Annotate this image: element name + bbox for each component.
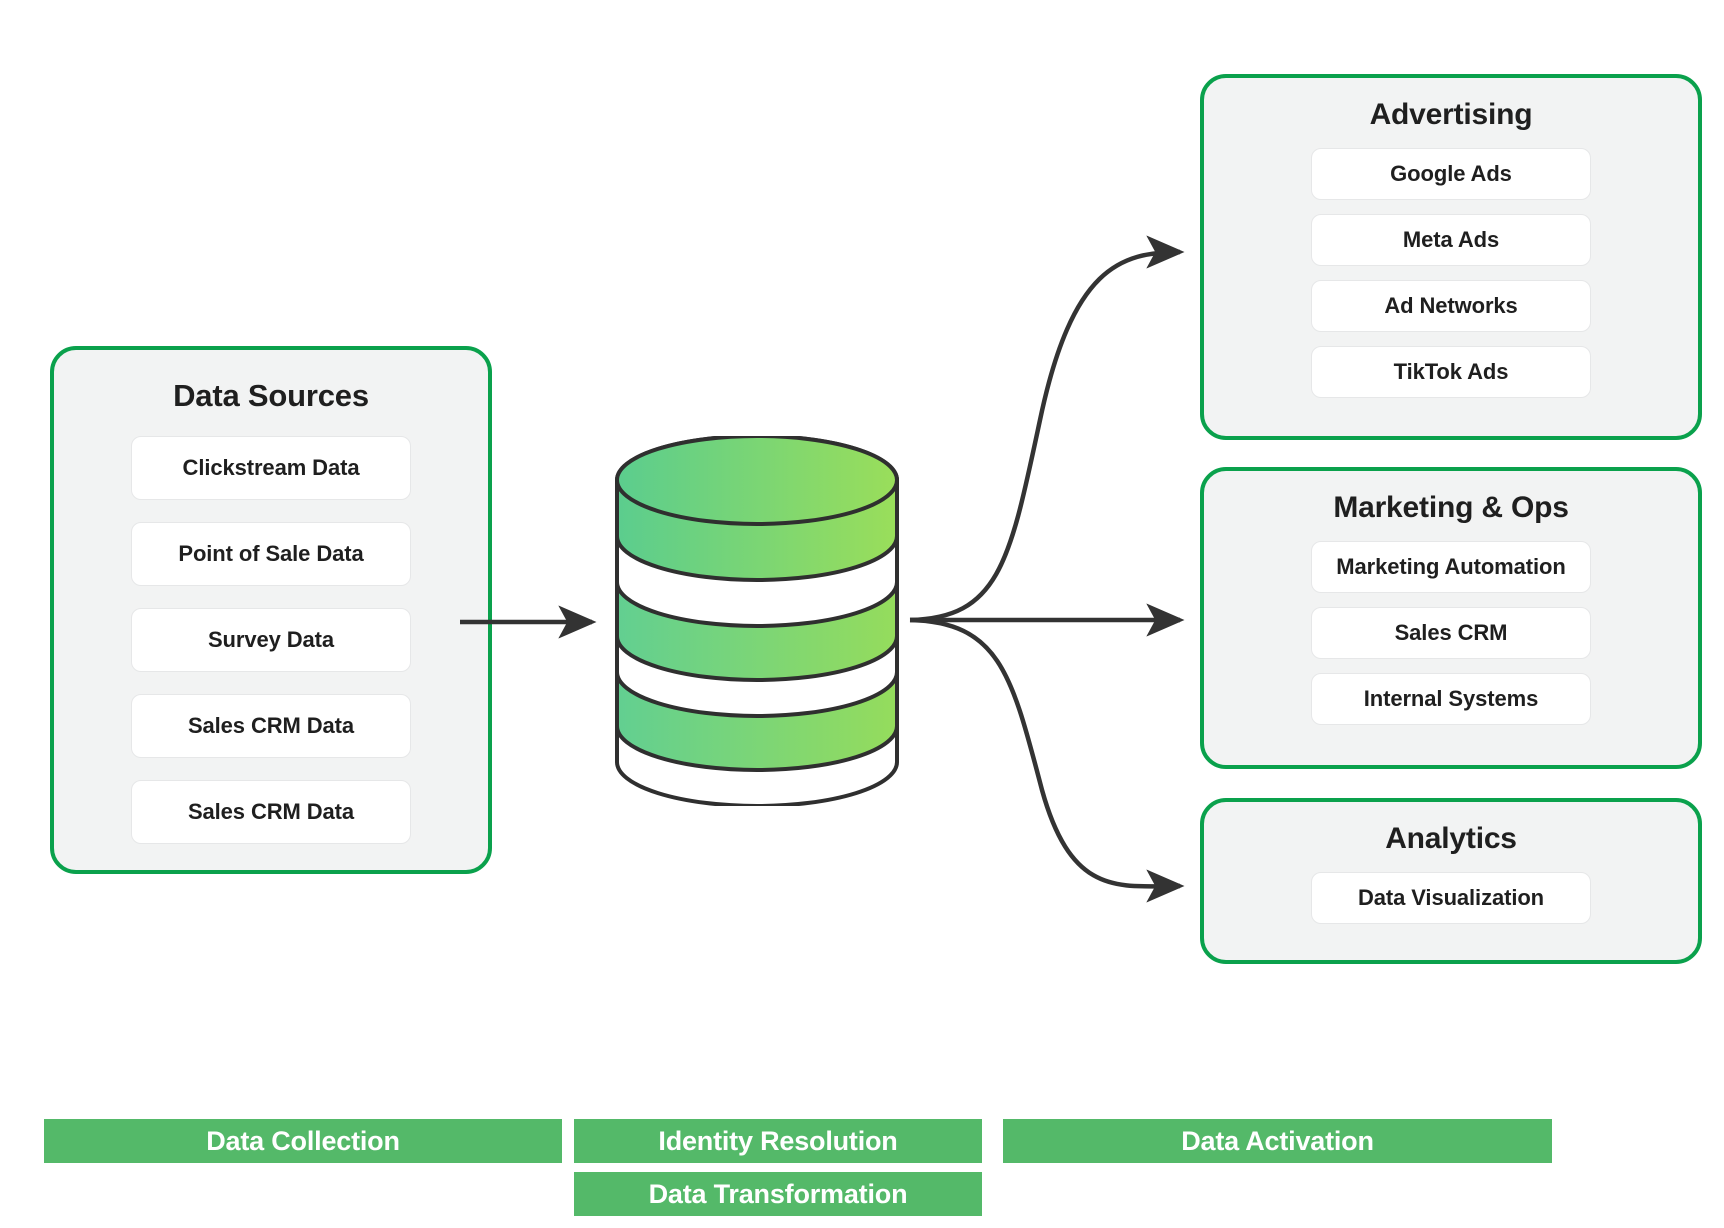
analytics-item[interactable]: Data Visualization	[1311, 872, 1591, 924]
data-source-item[interactable]: Survey Data	[131, 608, 411, 672]
arrow-database-to-advertising	[910, 252, 1180, 620]
advertising-item[interactable]: Google Ads	[1311, 148, 1591, 200]
marketing-ops-item[interactable]: Sales CRM	[1311, 607, 1591, 659]
advertising-title: Advertising	[1204, 98, 1698, 132]
marketing-ops-item[interactable]: Marketing Automation	[1311, 541, 1591, 593]
marketing-ops-panel: Marketing & Ops Marketing Automation Sal…	[1200, 467, 1702, 769]
data-sources-item-list: Clickstream Data Point of Sale Data Surv…	[54, 436, 488, 844]
data-source-item[interactable]: Sales CRM Data	[131, 780, 411, 844]
advertising-item-list: Google Ads Meta Ads Ad Networks TikTok A…	[1204, 148, 1698, 398]
stage-bar-data-activation: Data Activation	[1003, 1119, 1552, 1163]
advertising-item[interactable]: Meta Ads	[1311, 214, 1591, 266]
analytics-item-list: Data Visualization	[1204, 872, 1698, 924]
stage-bar-data-transformation: Data Transformation	[574, 1172, 982, 1216]
data-source-item[interactable]: Sales CRM Data	[131, 694, 411, 758]
advertising-panel: Advertising Google Ads Meta Ads Ad Netwo…	[1200, 74, 1702, 440]
analytics-panel: Analytics Data Visualization	[1200, 798, 1702, 964]
marketing-ops-item[interactable]: Internal Systems	[1311, 673, 1591, 725]
advertising-item[interactable]: Ad Networks	[1311, 280, 1591, 332]
stage-bar-data-collection: Data Collection	[44, 1119, 562, 1163]
marketing-ops-title: Marketing & Ops	[1204, 491, 1698, 525]
diagram-canvas: Data Sources Clickstream Data Point of S…	[0, 0, 1724, 1228]
analytics-title: Analytics	[1204, 822, 1698, 856]
advertising-item[interactable]: TikTok Ads	[1311, 346, 1591, 398]
data-source-item[interactable]: Clickstream Data	[131, 436, 411, 500]
stage-bar-identity-resolution: Identity Resolution	[574, 1119, 982, 1163]
marketing-ops-item-list: Marketing Automation Sales CRM Internal …	[1204, 541, 1698, 725]
arrow-database-to-analytics	[910, 620, 1180, 886]
database-cylinder	[612, 436, 902, 806]
data-sources-title: Data Sources	[54, 378, 488, 414]
database-cylinder-icon	[612, 436, 902, 806]
data-sources-panel: Data Sources Clickstream Data Point of S…	[50, 346, 492, 874]
data-source-item[interactable]: Point of Sale Data	[131, 522, 411, 586]
